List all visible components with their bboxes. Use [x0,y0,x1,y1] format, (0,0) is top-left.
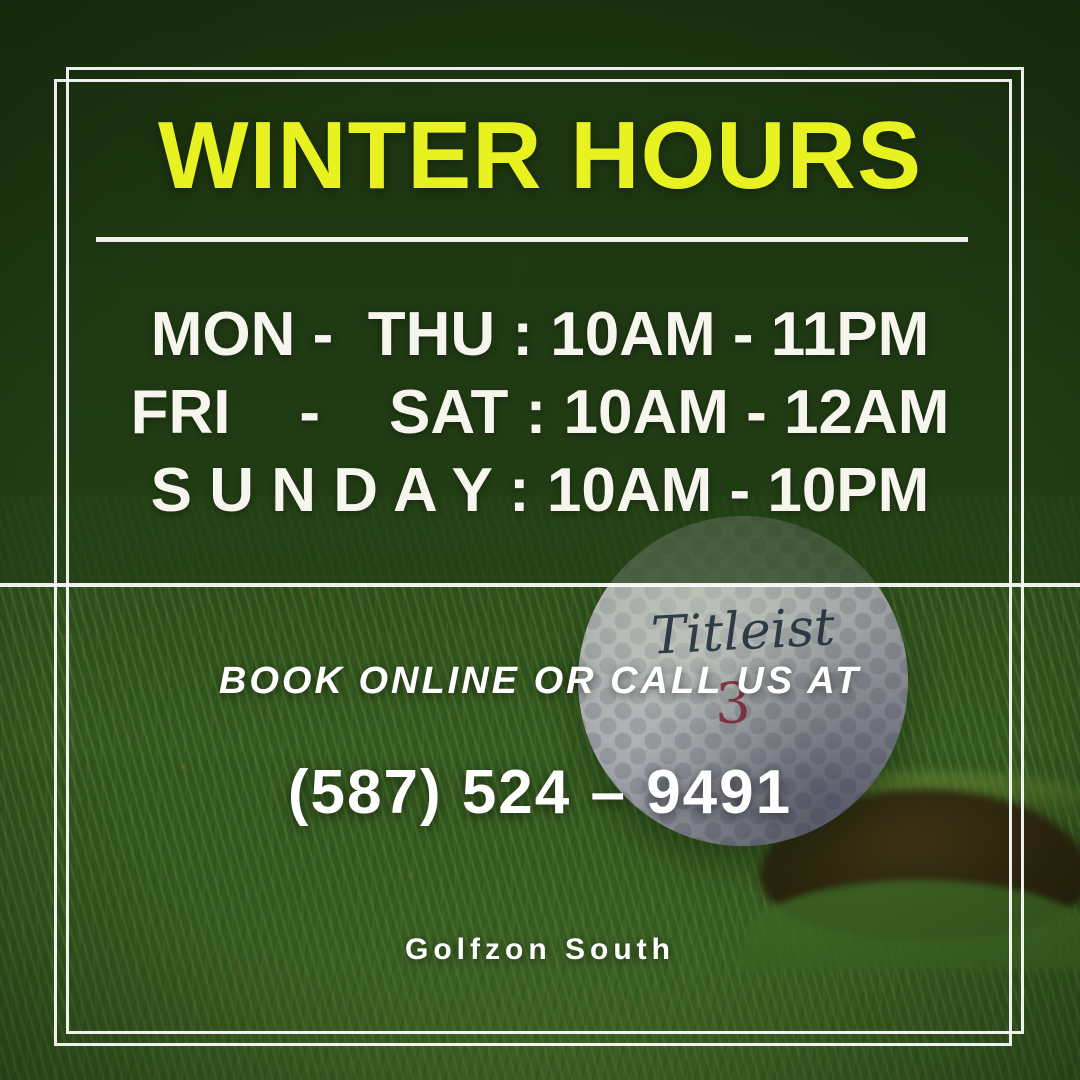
call-to-action-text: BOOK ONLINE OR CALL US AT [0,660,1080,703]
page-title: WINTER HOURS [0,108,1080,204]
hours-row-sunday: S U N D A Y : 10AM - 10PM [0,452,1080,530]
hours-row-mon-thu: MON - THU : 10AM - 11PM [0,296,1080,374]
poster-canvas: Titleist 3 WINTER HOURS MON - THU : 10AM… [0,0,1080,1080]
poster-content: WINTER HOURS MON - THU : 10AM - 11PM FRI… [0,0,1080,1080]
hours-list: MON - THU : 10AM - 11PM FRI - SAT : 10AM… [0,296,1080,530]
business-name: Golfzon South [0,933,1080,967]
title-underline-rule [96,237,968,242]
phone-number[interactable]: (587) 524 – 9491 [0,757,1080,828]
hours-row-fri-sat: FRI - SAT : 10AM - 12AM [0,374,1080,452]
